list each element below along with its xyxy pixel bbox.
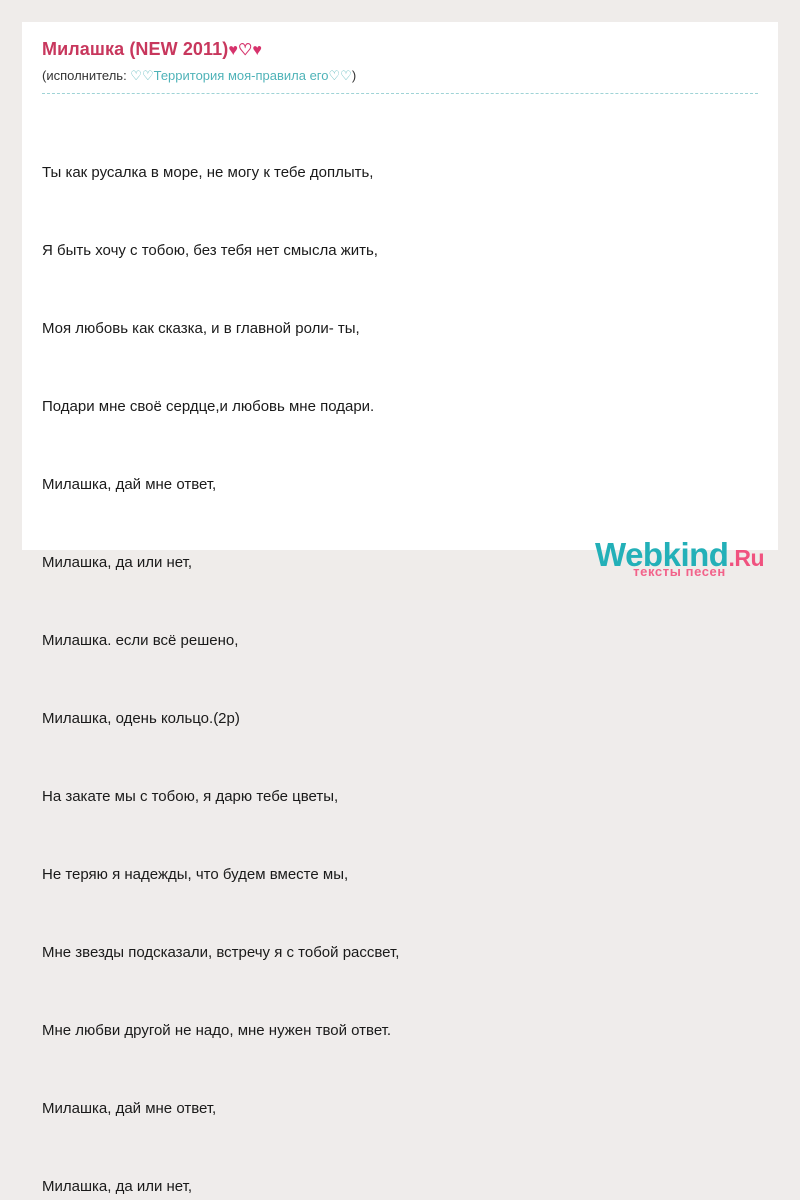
lyric-line: Милашка, одень кольцо.(2р) bbox=[42, 706, 758, 732]
lyric-line: На закате мы с тобою, я дарю тебе цветы, bbox=[42, 784, 758, 810]
lyric-line: Подари мне своё сердце,и любовь мне пода… bbox=[42, 394, 758, 420]
lyric-line: Ты как русалка в море, не могу к тебе до… bbox=[42, 160, 758, 186]
song-header: Милашка (NEW 2011)♥♡♥ (исполнитель: ♡♡Те… bbox=[22, 22, 778, 94]
lyric-line: Милашка, дай мне ответ, bbox=[42, 1096, 758, 1122]
page-title: Милашка (NEW 2011)♥♡♥ bbox=[42, 38, 758, 61]
song-title-text: Милашка (NEW 2011) bbox=[42, 39, 228, 59]
artist-line: (исполнитель: ♡♡Территория моя-правила е… bbox=[42, 68, 758, 94]
lyric-line: Мне любви другой не надо, мне нужен твой… bbox=[42, 1018, 758, 1044]
site-logo[interactable]: Webkind.Ru тексты песен bbox=[595, 538, 764, 578]
lyrics-body: Ты как русалка в море, не могу к тебе до… bbox=[22, 94, 778, 1200]
lyric-line: Не теряю я надежды, что будем вместе мы, bbox=[42, 862, 758, 888]
artist-paren-close: ) bbox=[352, 68, 356, 83]
artist-link[interactable]: ♡♡Территория моя-правила его♡♡ bbox=[130, 68, 352, 83]
lyric-line: Мне звезды подсказали, встречу я с тобой… bbox=[42, 940, 758, 966]
lyric-line: Моя любовь как сказка, и в главной роли-… bbox=[42, 316, 758, 342]
lyric-line: Милашка. если всё решено, bbox=[42, 628, 758, 654]
lyric-line: Я быть хочу с тобою, без тебя нет смысла… bbox=[42, 238, 758, 264]
lyrics-content-card: Милашка (NEW 2011)♥♡♥ (исполнитель: ♡♡Те… bbox=[22, 22, 778, 550]
artist-label: (исполнитель: bbox=[42, 68, 130, 83]
page-background: Милашка (NEW 2011)♥♡♥ (исполнитель: ♡♡Те… bbox=[0, 0, 800, 600]
heart-decoration-icon: ♥♡♥ bbox=[228, 42, 262, 59]
site-logo-tld: .Ru bbox=[728, 545, 764, 571]
lyric-line: Милашка, дай мне ответ, bbox=[42, 472, 758, 498]
lyric-line: Милашка, да или нет, bbox=[42, 1174, 758, 1200]
